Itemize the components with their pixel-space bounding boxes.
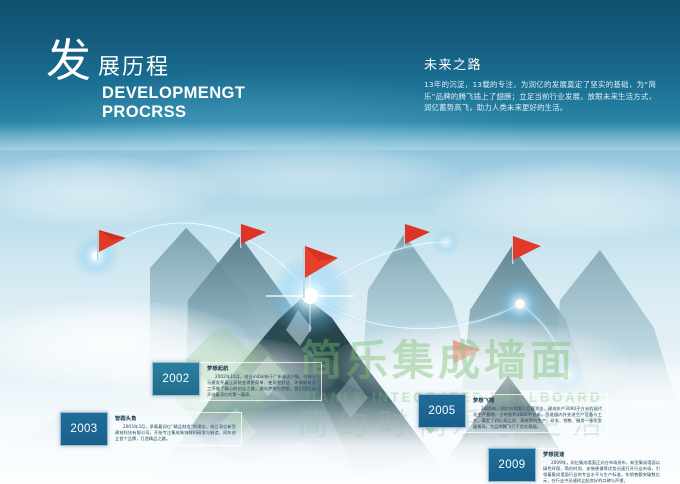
cloud-decor	[0, 156, 220, 226]
entry-body: 2009年，润亿集成墙面正式在市场发布，新型集成墙面以绿色环保、简约时尚、安装便…	[543, 460, 660, 484]
title-rest-chars: 展历程	[98, 57, 170, 79]
entry-panel-2009: 梦想提速 2009年，润亿集成墙面正式在市场发布，新型集成墙面以绿色环保、简约时…	[536, 448, 666, 484]
title-english-line2: PROCRSS	[102, 103, 245, 121]
poster-canvas: 发 展历程 DEVELOPMENGT PROCRSS 未来之路 13年的沉淀，1…	[0, 0, 680, 484]
flag-group	[97, 224, 541, 366]
year-badge-2005[interactable]: 2005	[418, 394, 466, 428]
entry-heading: 梦想起航	[207, 366, 316, 373]
entry-panel-2005: 梦想飞翔 2005年，润亿公司投入巨额资金，建成年产3000平方米的现代化生产基…	[466, 394, 608, 433]
timeline-entry-2009[interactable]: 2009 梦想提速 2009年，润亿集成墙面正式在市场发布，新型集成墙面以绿色环…	[488, 448, 666, 484]
entry-body: 2005年，润亿公司投入巨额资金，建成年产3000平方米的现代化生产基地，占地面…	[473, 406, 602, 430]
entry-heading: 智圆头角	[115, 416, 236, 423]
header-band: 发 展历程 DEVELOPMENGT PROCRSS 未来之路 13年的沉淀，1…	[0, 0, 680, 150]
timeline-entry-2005[interactable]: 2005 梦想飞翔 2005年，润亿公司投入巨额资金，建成年产3000平方米的现…	[418, 394, 608, 433]
timeline-entry-2003[interactable]: 2003 智圆头角 2003年3月，承载着润亿“精品制造”的理念，成立润亿新型建…	[60, 412, 242, 446]
intro-body: 13年的沉淀，13载的专注，为润亿的发展奠定了坚实的基础，为“简乐”品牌的腾飞插…	[424, 79, 656, 114]
year-badge-2009[interactable]: 2009	[488, 448, 536, 482]
watermark-brand-cn: 简乐集成墙面	[300, 338, 576, 384]
cloud-decor	[430, 160, 680, 240]
entry-panel-2003: 智圆头角 2003年3月，承载着润亿“精品制造”的理念，成立润亿新型建材科技有限…	[108, 412, 242, 446]
timeline-entry-2002[interactable]: 2002 梦想起航 2002年10月，创业initial始于广东清远小镇，创始人…	[152, 362, 322, 401]
intro-heading: 未来之路	[424, 54, 656, 73]
entry-body: 2003年3月，承载着润亿“精品制造”的理念，成立润亿新型建材科技有限公司，开始…	[115, 424, 236, 442]
cloud-decor	[160, 150, 460, 204]
entry-heading: 梦想飞翔	[473, 398, 602, 405]
title-big-char: 发	[46, 38, 92, 83]
entry-body: 2002年10月，创业initial始于广东清远小镇，创始人马建发怀着让家装变得…	[207, 374, 316, 398]
entry-panel-2002: 梦想起航 2002年10月，创业initial始于广东清远小镇，创始人马建发怀着…	[200, 362, 322, 401]
mountain-scene: 简乐集成墙面 JIANLE INTEGRATED WALLBOARD 简约时尚 …	[0, 150, 680, 484]
entry-heading: 梦想提速	[543, 452, 660, 459]
title-english-line1: DEVELOPMENGT	[102, 84, 245, 102]
year-badge-2003[interactable]: 2003	[60, 412, 108, 446]
page-title: 发 展历程 DEVELOPMENGT PROCRSS	[46, 38, 245, 121]
year-badge-2002[interactable]: 2002	[152, 362, 200, 396]
intro-block: 未来之路 13年的沉淀，13载的专注，为润亿的发展奠定了坚实的基础，为“简乐”品…	[424, 54, 656, 114]
